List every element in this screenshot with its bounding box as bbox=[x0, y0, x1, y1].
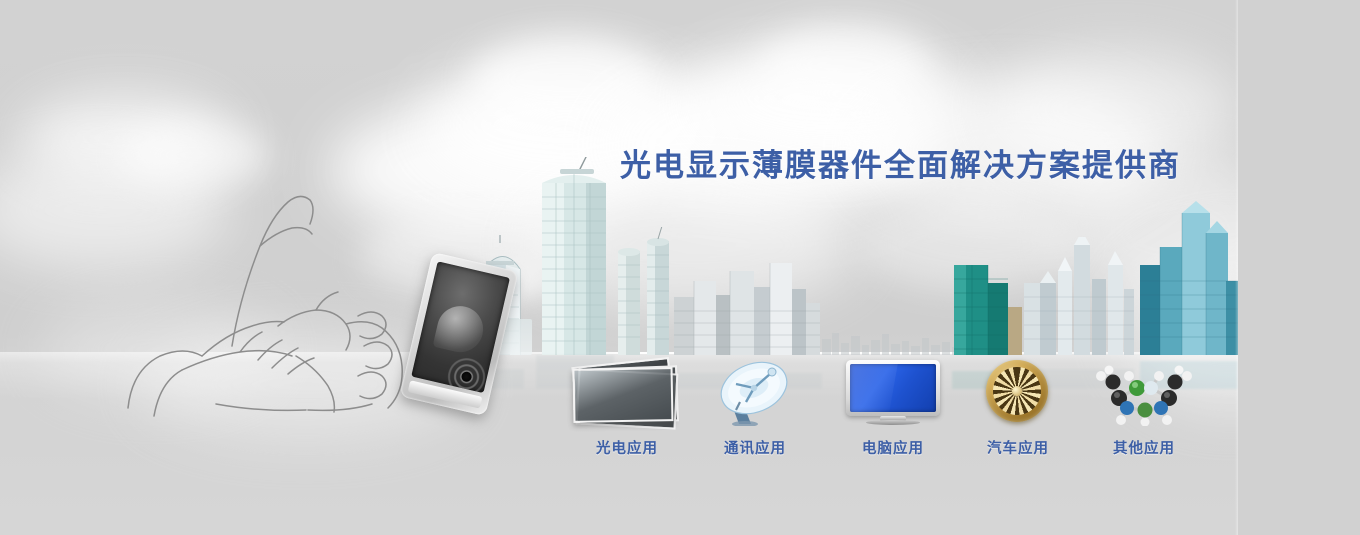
application-item-communication[interactable]: 通讯应用 bbox=[690, 358, 820, 458]
application-item-other[interactable]: 其他应用 bbox=[1079, 358, 1209, 458]
sketched-hand-illustration bbox=[120, 120, 460, 420]
satellite-dish-icon bbox=[696, 358, 814, 426]
application-label: 通讯应用 bbox=[690, 437, 820, 458]
wheel-hub bbox=[1012, 386, 1022, 396]
computer-monitor-icon bbox=[828, 358, 958, 426]
gray-tower-cluster bbox=[672, 259, 822, 355]
application-item-automotive[interactable]: 汽车应用 bbox=[953, 358, 1083, 458]
distant-skyline bbox=[822, 325, 962, 355]
wheel-rim bbox=[986, 360, 1048, 422]
screen-ripple-graphic bbox=[440, 350, 493, 393]
hero-banner: 光电显示薄膜器件全面解决方案提供商 光电应用 bbox=[0, 0, 1360, 535]
monitor-base bbox=[866, 420, 920, 425]
monitor-frame bbox=[846, 360, 940, 416]
page-title: 光电显示薄膜器件全面解决方案提供商 bbox=[620, 140, 1181, 185]
molecule-model-icon bbox=[1079, 358, 1209, 426]
twin-tower-b bbox=[644, 227, 672, 355]
car-wheel-rim-icon bbox=[953, 358, 1083, 426]
application-label: 电脑应用 bbox=[828, 437, 958, 458]
application-label: 其他应用 bbox=[1079, 437, 1209, 458]
application-item-computer[interactable]: 电脑应用 bbox=[828, 358, 958, 458]
application-label: 光电应用 bbox=[562, 437, 692, 458]
teal-tower bbox=[952, 249, 1024, 355]
screen-highlight bbox=[433, 302, 488, 357]
banner-artwork-plate: 光电显示薄膜器件全面解决方案提供商 光电应用 bbox=[0, 0, 1238, 535]
application-item-optoelectronic[interactable]: 光电应用 bbox=[562, 358, 692, 458]
phone-screen bbox=[411, 261, 510, 393]
glass-film-sheets-icon bbox=[568, 358, 686, 426]
twin-tower-a bbox=[616, 243, 642, 355]
blue-glass-cluster bbox=[1140, 195, 1238, 355]
monitor-screen bbox=[850, 364, 936, 412]
silver-spires bbox=[1024, 237, 1134, 355]
application-label: 汽车应用 bbox=[953, 437, 1083, 458]
main-tower bbox=[536, 157, 614, 355]
